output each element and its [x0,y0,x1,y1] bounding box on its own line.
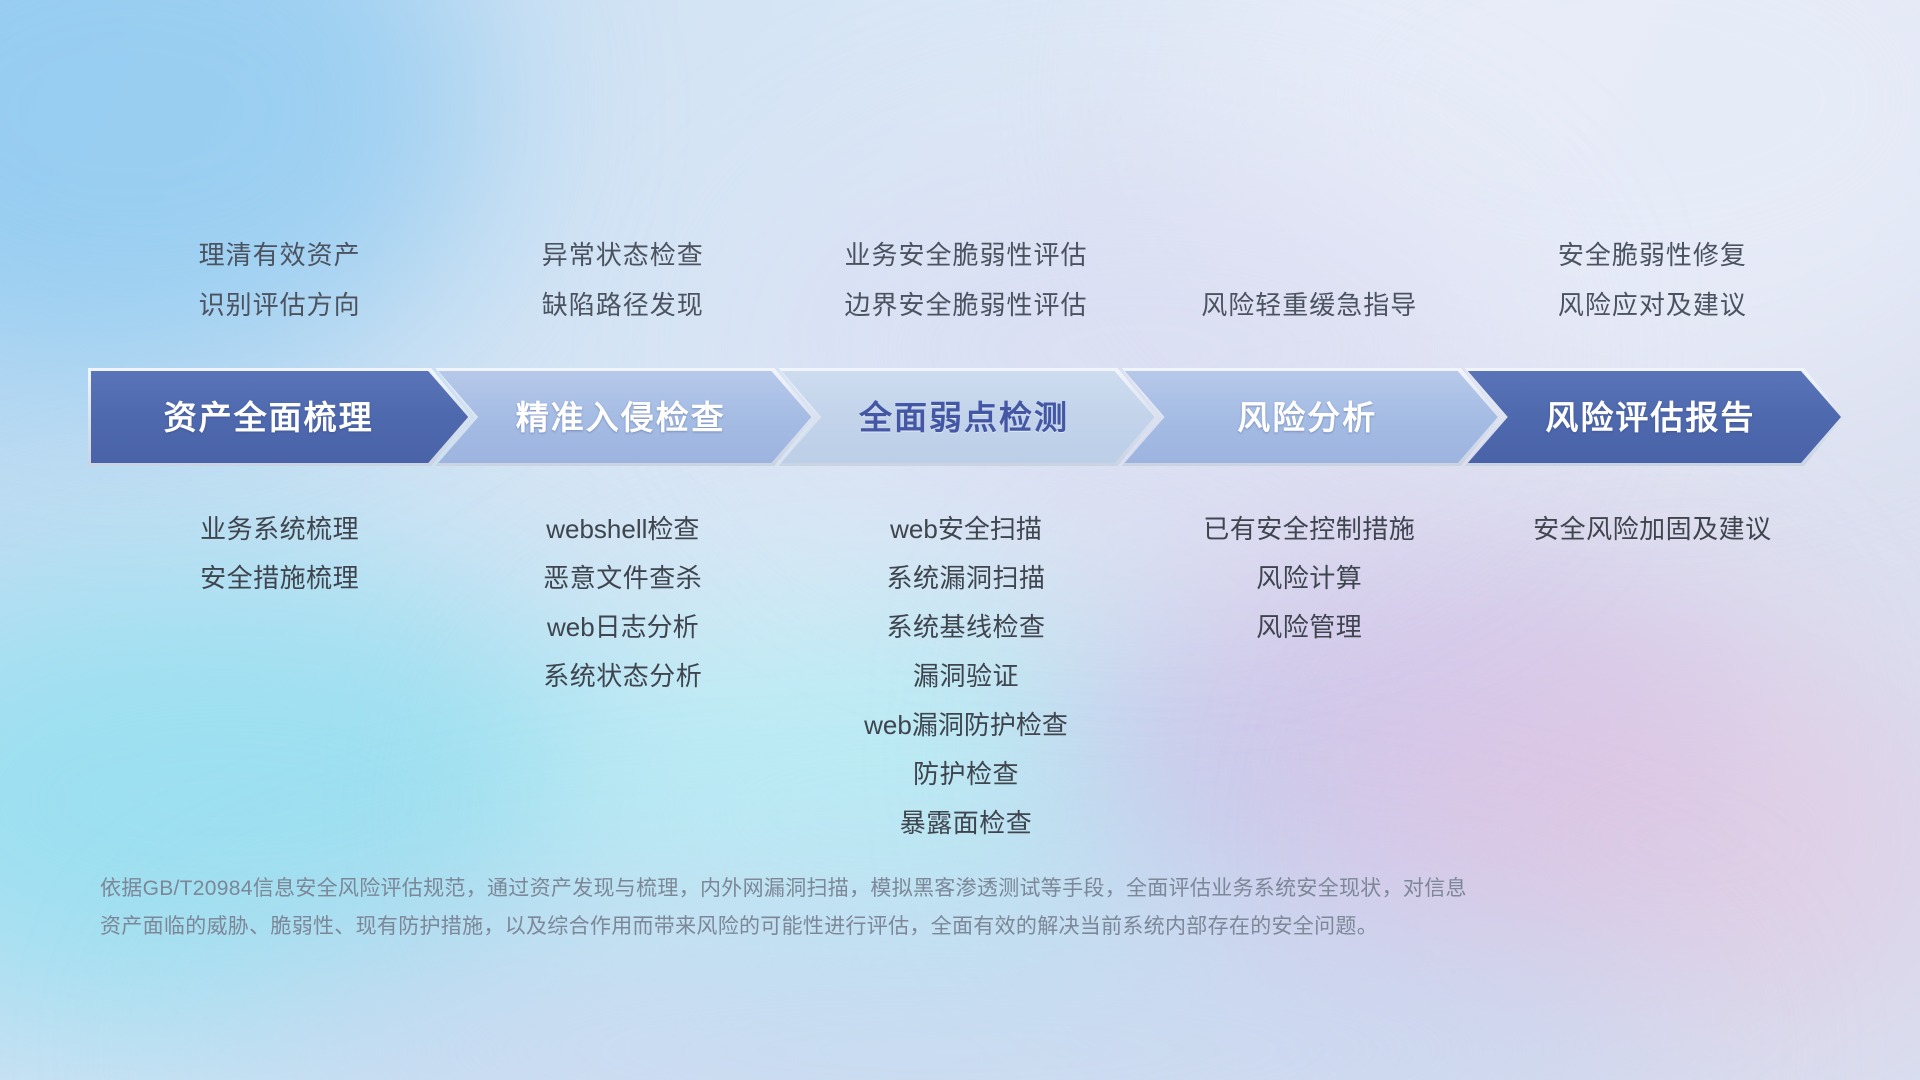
bottom-list-item: 恶意文件查杀 [543,554,702,603]
process-stage-3[interactable]: 全面弱点检测 [778,368,1157,466]
stage-label-2: 精准入侵检查 [516,401,726,434]
stage-label-5: 风险评估报告 [1545,401,1755,434]
bottom-list-item: webshell检查 [546,505,699,554]
bottom-list-item: 风险计算 [1256,554,1362,603]
footer-line-1: 依据GB/T20984信息安全风险评估规范，通过资产发现与梳理，内外网漏洞扫描，… [100,870,1740,908]
bottom-list-item: 安全风险加固及建议 [1533,505,1772,554]
bottom-list-item: 已有安全控制措施 [1203,505,1415,554]
footer-line-2: 资产面临的威胁、脆弱性、现有防护措施，以及综合作用而带来风险的可能性进行评估，全… [100,908,1740,946]
bottom-detail-lists: 业务系统梳理安全措施梳理webshell检查恶意文件查杀web日志分析系统状态分… [0,505,1920,885]
bottom-list-item: 系统漏洞扫描 [887,554,1046,603]
process-stage-1[interactable]: 资产全面梳理 [88,368,471,466]
process-stage-2[interactable]: 精准入侵检查 [435,368,814,466]
footer-description: 依据GB/T20984信息安全风险评估规范，通过资产发现与梳理，内外网漏洞扫描，… [100,870,1740,946]
bottom-list-item: 防护检查 [913,750,1019,799]
diagram-stage: 理清有效资产识别评估方向异常状态检查缺陷路径发现业务安全脆弱性评估边界安全脆弱性… [0,0,1920,1080]
top-caption-item: 理清有效资产 [199,230,361,280]
top-caption-item: 安全脆弱性修复 [1558,230,1747,280]
bottom-list-item: 系统状态分析 [543,652,702,701]
bottom-list-item: 漏洞验证 [913,652,1019,701]
top-caption-item: 识别评估方向 [199,280,361,330]
bottom-list-item: 风险管理 [1256,603,1362,652]
bottom-list-item: web漏洞防护检查 [864,701,1068,750]
top-caption-item: 边界安全脆弱性评估 [845,280,1088,330]
process-stage-4[interactable]: 风险分析 [1122,368,1501,466]
stage-label-1: 资产全面梳理 [164,401,374,434]
top-caption-item: 异常状态检查 [542,230,704,280]
stage-label-4: 风险分析 [1237,401,1377,434]
top-captions-row: 理清有效资产识别评估方向异常状态检查缺陷路径发现业务安全脆弱性评估边界安全脆弱性… [0,228,1920,338]
bottom-list-item: 安全措施梳理 [200,554,359,603]
process-chevron-band: 资产全面梳理精准入侵检查全面弱点检测风险分析风险评估报告 [88,368,1844,466]
bottom-list-item: web日志分析 [547,603,699,652]
top-caption-item: 业务安全脆弱性评估 [845,230,1088,280]
stage-label-3: 全面弱点检测 [859,401,1069,434]
bottom-list-item: 系统基线检查 [887,603,1046,652]
top-caption-item: 风险应对及建议 [1558,280,1747,330]
bottom-list-item: 暴露面检查 [900,799,1033,848]
top-caption-item: 缺陷路径发现 [542,280,704,330]
process-stage-5[interactable]: 风险评估报告 [1465,368,1844,466]
bottom-list-item: 业务系统梳理 [200,505,359,554]
top-caption-item: 风险轻重缓急指导 [1201,280,1417,330]
bottom-list-item: web安全扫描 [890,505,1042,554]
